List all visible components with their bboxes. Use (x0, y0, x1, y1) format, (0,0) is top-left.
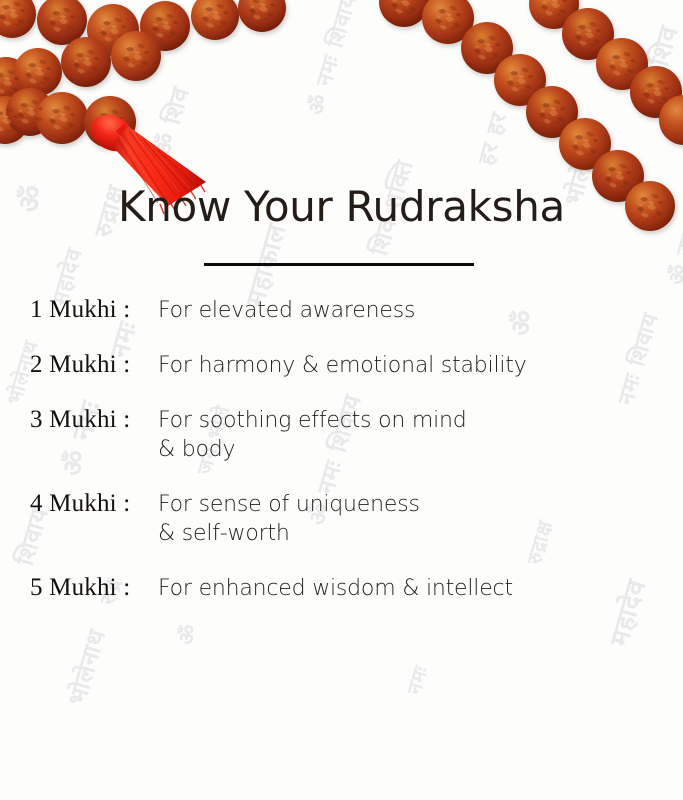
list-item: 4 Mukhi : For sense of uniqueness & self… (0, 490, 683, 548)
mukhi-description-line1: For sense of uniqueness (158, 492, 420, 517)
mukhi-list: 1 Mukhi : For elevated awareness 2 Mukhi… (0, 296, 683, 629)
mukhi-description-line1: For soothing effects on mind (158, 408, 467, 433)
list-item: 1 Mukhi : For elevated awareness (0, 296, 683, 325)
mukhi-description: For soothing effects on mind & body (158, 406, 683, 464)
mukhi-label: 3 Mukhi : (0, 406, 158, 434)
mukhi-description-line1: For harmony & emotional stability (158, 353, 527, 378)
mukhi-description-line1: For enhanced wisdom & intellect (158, 576, 513, 601)
mukhi-label: 2 Mukhi : (0, 351, 158, 379)
mukhi-description-line2: & self-worth (158, 519, 671, 548)
mukhi-description: For sense of uniqueness & self-worth (158, 490, 683, 548)
mukhi-description-line1: For elevated awareness (158, 298, 415, 323)
mukhi-label: 4 Mukhi : (0, 490, 158, 518)
know-your-rudraksha-infographic: शिवॐ नमः शिवायरुद्राक्षॐमहादेवनमःभोलेनाथ… (0, 0, 683, 800)
mukhi-label: 5 Mukhi : (0, 574, 158, 602)
mukhi-description: For elevated awareness (158, 296, 683, 325)
mukhi-description: For harmony & emotional stability (158, 351, 683, 380)
infographic-content: Know Your Rudraksha 1 Mukhi : For elevat… (0, 0, 683, 800)
mukhi-description-line2: & body (158, 435, 671, 464)
page-title: Know Your Rudraksha (0, 186, 683, 228)
title-divider (204, 263, 474, 266)
list-item: 2 Mukhi : For harmony & emotional stabil… (0, 351, 683, 380)
list-item: 5 Mukhi : For enhanced wisdom & intellec… (0, 574, 683, 603)
list-item: 3 Mukhi : For soothing effects on mind &… (0, 406, 683, 464)
mukhi-description: For enhanced wisdom & intellect (158, 574, 683, 603)
mukhi-label: 1 Mukhi : (0, 296, 158, 324)
